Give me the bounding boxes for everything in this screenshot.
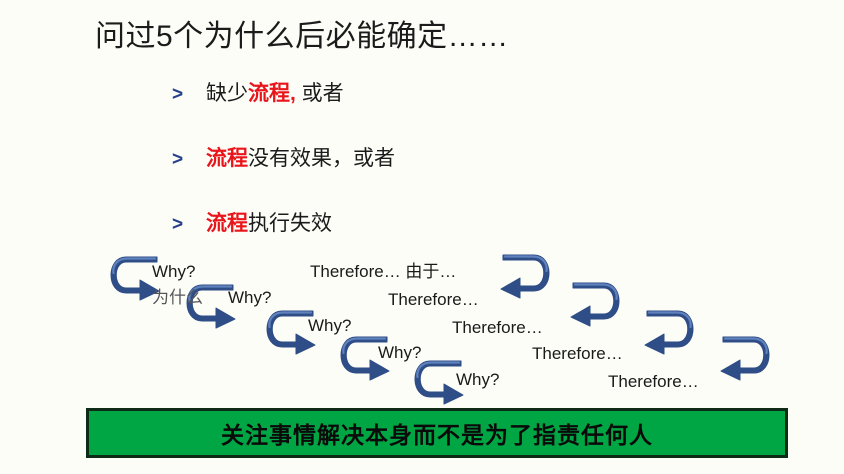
bullet-highlight-2: 流程: [206, 147, 248, 170]
therefore-label-5: Therefore…: [608, 372, 699, 392]
why-label-1: Why?: [152, 262, 195, 282]
bullet-tail-2: 没有效果，或者: [248, 147, 395, 170]
why-therefore-cascade-diagram: Why?为什么Why?Why?Why?Why?Therefore… 由于…The…: [0, 248, 844, 396]
bullet-highlight-3: 流程: [206, 212, 248, 235]
bullet-item-2: > 流程没有效果，或者: [172, 145, 395, 173]
bullet-marker-icon: >: [172, 82, 206, 108]
bullet-item-1: > 缺少流程, 或者: [172, 80, 344, 108]
why-label-4: Why?: [308, 316, 351, 336]
therefore-label-3: Therefore…: [452, 318, 543, 338]
loop-arrow-left-icon: [562, 282, 620, 326]
bullet-tail-1: 或者: [296, 82, 344, 105]
why-label-2: 为什么: [152, 288, 203, 308]
bullet-lead-1: 缺少: [206, 82, 248, 105]
therefore-label-2: Therefore…: [388, 290, 479, 310]
therefore-label-1: Therefore… 由于…: [310, 262, 456, 282]
bullet-text-3: 流程执行失效: [206, 210, 332, 238]
loop-arrow-left-icon: [712, 336, 770, 380]
bullet-text-2: 流程没有效果，或者: [206, 145, 395, 173]
bullet-text-1: 缺少流程, 或者: [206, 80, 344, 108]
therefore-label-4: Therefore…: [532, 344, 623, 364]
bullet-tail-3: 执行失效: [248, 212, 332, 235]
loop-arrow-left-icon: [636, 310, 694, 354]
bullet-highlight-1: 流程,: [248, 82, 296, 105]
page-title: 问过5个为什么后必能确定……: [95, 18, 509, 56]
bullet-marker-icon: >: [172, 212, 206, 238]
why-label-6: Why?: [456, 370, 499, 390]
why-label-5: Why?: [378, 343, 421, 363]
bullet-item-3: > 流程执行失效: [172, 210, 332, 238]
conclusion-banner: 关注事情解决本身而不是为了指责任何人: [86, 408, 788, 458]
loop-arrow-left-icon: [492, 254, 550, 298]
conclusion-banner-text: 关注事情解决本身而不是为了指责任何人: [221, 416, 653, 450]
bullet-marker-icon: >: [172, 147, 206, 173]
why-label-3: Why?: [228, 288, 271, 308]
slide-canvas: 问过5个为什么后必能确定…… > 缺少流程, 或者 > 流程没有效果，或者 > …: [0, 0, 844, 474]
